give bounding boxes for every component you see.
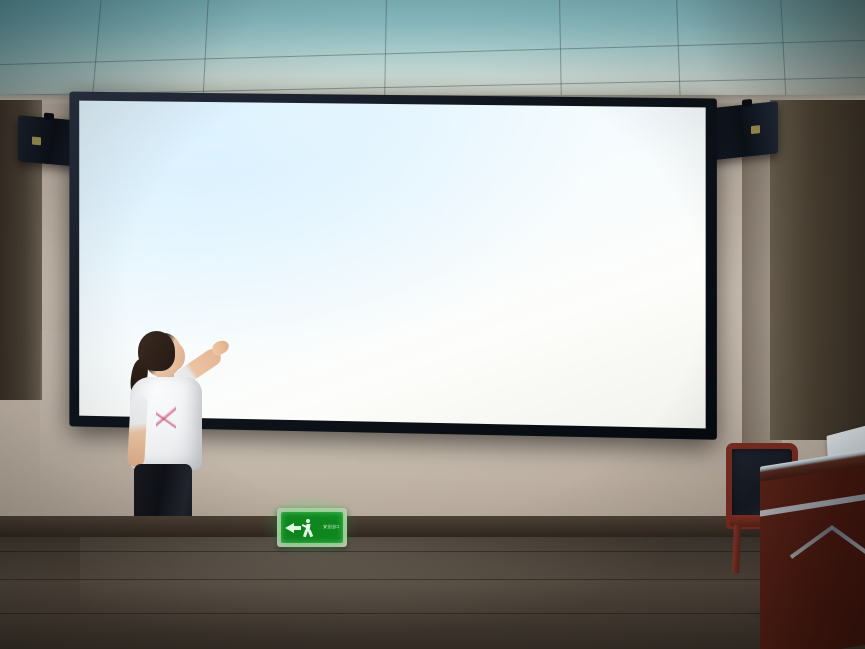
floor-reflection bbox=[80, 537, 720, 649]
emergency-exit-sign: 安全出口 bbox=[277, 508, 347, 547]
leaf-dots-icon bbox=[118, 129, 135, 143]
slide-watermark: 人民日报客户端 bbox=[605, 133, 659, 144]
floor-plank-line bbox=[0, 613, 865, 614]
chair-leg bbox=[732, 525, 741, 573]
left-arrow-icon bbox=[285, 523, 294, 533]
slide-title-badge: 环境保护 bbox=[112, 123, 219, 151]
slide-body-line: 固树立和践行绿水青山就是金山银山的理念，把建设美丽中国 bbox=[127, 292, 552, 317]
exit-sign-label: 安全出口 bbox=[323, 525, 339, 529]
ceiling-grid-line bbox=[559, 0, 562, 103]
ceiling-shadow-left bbox=[0, 0, 320, 103]
podium bbox=[760, 436, 865, 649]
slide-body-line: 总书记、国家主席、中央军委主席习近平出席会议并发表重要 bbox=[127, 220, 552, 244]
speaker-badge-icon bbox=[751, 125, 760, 134]
ceiling-shadow-right bbox=[655, 0, 865, 103]
podium-body bbox=[760, 453, 865, 649]
decorative-circle bbox=[658, 234, 672, 265]
speaker-badge-icon bbox=[32, 137, 41, 146]
presenter-shirt-print bbox=[156, 401, 176, 433]
slide-body-line: 全国生态环境保护大会17日至18日在北京召开。中共中央 bbox=[127, 196, 565, 220]
right-wall-dark-panel bbox=[770, 100, 865, 440]
speaker-mount-bracket bbox=[742, 99, 752, 107]
speaker-mount-bracket bbox=[44, 113, 54, 121]
room-photo-scene: 环境保护 人民日报客户端 全国生态环境保护大会17日至18日在北京召开。中共中央… bbox=[0, 0, 865, 649]
floor-plank-line bbox=[0, 579, 865, 580]
slide-title: 环境保护 bbox=[144, 126, 207, 148]
slide-body-line: 时代中国特色社会主义生态文明思想，坚持以人民为中心，牢 bbox=[127, 268, 552, 293]
slide-body-line: 讲话强调，今后5年是美丽中国建设的重要时期，要深入贯彻新 bbox=[127, 244, 563, 269]
emergency-exit-running-man-icon bbox=[301, 519, 315, 537]
ceiling-tiles bbox=[0, 0, 865, 103]
exit-sign-face: 安全出口 bbox=[281, 512, 343, 543]
